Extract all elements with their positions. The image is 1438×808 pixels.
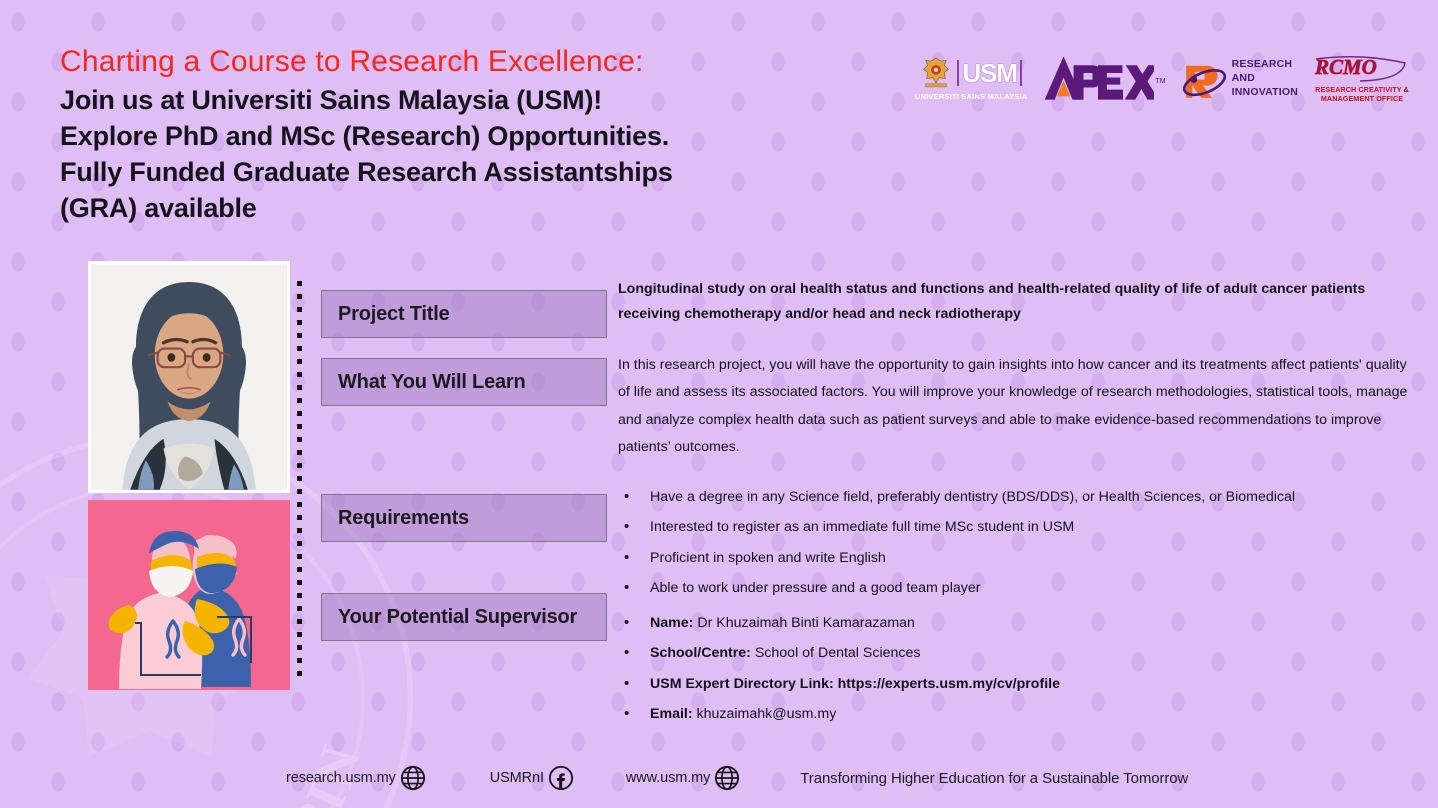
- logo-bar: USM UNIVERSITI SAINS MALAYSIA TM: [915, 50, 1412, 106]
- headline-line-4: (GRA) available: [60, 191, 960, 227]
- ri-line-3: INNOVATION: [1232, 85, 1298, 99]
- headline-line-3: Fully Funded Graduate Research Assistant…: [60, 155, 960, 191]
- ri-line-1: RESEARCH: [1232, 57, 1298, 71]
- usm-logo: USM UNIVERSITI SAINS MALAYSIA: [915, 56, 1028, 101]
- project-title-text: Longitudinal study on oral health status…: [618, 277, 1408, 327]
- list-item: Have a degree in any Science field, pref…: [618, 484, 1408, 510]
- label-box-requirements: Requirements: [321, 494, 607, 542]
- facebook-icon: [548, 765, 574, 791]
- rcmo-subtitle: RESEARCH CREATIVITY & MANAGEMENT OFFICE: [1315, 86, 1409, 103]
- poster-canvas: KAMI MEMIMPIN Charting a Course to Resea…: [0, 0, 1438, 808]
- rcmo-logo: RCMO RESEARCH CREATIVITY & MANAGEMENT OF…: [1312, 53, 1412, 103]
- cancer-awareness-illustration: [88, 500, 290, 690]
- label-box-what-you-will-learn: What You Will Learn: [321, 358, 607, 406]
- supervisor-details-container: Name: Dr Khuzaimah Binti Kamarazaman Sch…: [618, 610, 1408, 731]
- list-item: School/Centre: School of Dental Sciences: [618, 640, 1408, 666]
- footer-item-research-site[interactable]: research.usm.my: [286, 765, 426, 791]
- poster-header: Charting a Course to Research Excellence…: [60, 44, 960, 227]
- supervisor-key: Name:: [650, 615, 693, 631]
- rcmo-sub-line-2: MANAGEMENT OFFICE: [1315, 95, 1409, 104]
- supervisor-key: USM Expert Directory Link:: [650, 676, 834, 692]
- supervisor-list: Name: Dr Khuzaimah Binti Kamarazaman Sch…: [618, 610, 1408, 727]
- apex-trademark: TM: [1156, 78, 1166, 85]
- label-box-project-title: Project Title: [321, 290, 607, 338]
- list-item: Proficient in spoken and write English: [618, 545, 1408, 571]
- apex-wordmark-icon: [1042, 53, 1154, 103]
- headline-line-1: Join us at Universiti Sains Malaysia (US…: [60, 83, 960, 119]
- label-text-supervisor: Your Potential Supervisor: [338, 606, 577, 629]
- label-text-requirements: Requirements: [338, 507, 469, 530]
- requirements-list-container: Have a degree in any Science field, pref…: [618, 484, 1408, 605]
- supervisor-email[interactable]: khuzaimahk@usm.my: [693, 706, 837, 722]
- footer-item-usm-site[interactable]: www.usm.my: [626, 765, 740, 791]
- list-item: Interested to register as an immediate f…: [618, 514, 1408, 540]
- list-item: Email: khuzaimahk@usm.my: [618, 701, 1408, 727]
- list-item: Name: Dr Khuzaimah Binti Kamarazaman: [618, 610, 1408, 636]
- supervisor-key: Email:: [650, 706, 693, 722]
- usm-wordmark: USM: [957, 60, 1022, 86]
- label-text-project-title: Project Title: [338, 303, 450, 326]
- footer-item-facebook[interactable]: USMRnI: [490, 765, 574, 791]
- footer-label-facebook: USMRnI: [490, 770, 544, 786]
- footer-label-usm-site: www.usm.my: [626, 770, 710, 786]
- ri-symbol-icon: [1180, 55, 1226, 101]
- ri-text-block: RESEARCH AND INNOVATION: [1232, 57, 1298, 100]
- rcmo-wordmark-icon: RCMO: [1312, 53, 1412, 85]
- supervisor-key: School/Centre:: [650, 645, 751, 661]
- label-box-supervisor: Your Potential Supervisor: [321, 593, 607, 641]
- supervisor-value: Dr Khuzaimah Binti Kamarazaman: [693, 615, 915, 631]
- vertical-dotted-divider: [297, 281, 302, 679]
- footer-tagline: Transforming Higher Education for a Sust…: [800, 770, 1188, 787]
- supervisor-portrait: [88, 261, 290, 493]
- what-you-will-learn-text: In this research project, you will have …: [618, 352, 1408, 462]
- ri-line-2: AND: [1232, 71, 1298, 85]
- globe-icon: [400, 765, 426, 791]
- header-headline: Join us at Universiti Sains Malaysia (US…: [60, 83, 960, 227]
- label-text-what-you-will-learn: What You Will Learn: [338, 371, 526, 394]
- supervisor-value: School of Dental Sciences: [751, 645, 921, 661]
- header-tagline: Charting a Course to Research Excellence…: [60, 44, 960, 80]
- supervisor-link[interactable]: https://experts.usm.my/cv/profile: [834, 676, 1060, 692]
- poster-footer: research.usm.my USMRnI www.usm.my: [0, 758, 1438, 798]
- research-innovation-logo: RESEARCH AND INNOVATION: [1180, 55, 1298, 101]
- headline-line-2: Explore PhD and MSc (Research) Opportuni…: [60, 119, 960, 155]
- list-item: Able to work under pressure and a good t…: [618, 575, 1408, 601]
- globe-icon: [714, 765, 740, 791]
- apex-logo: TM: [1042, 53, 1166, 103]
- footer-label-research-site: research.usm.my: [286, 770, 396, 786]
- usm-crest-icon: [920, 56, 952, 90]
- requirements-list: Have a degree in any Science field, pref…: [618, 484, 1408, 601]
- usm-subtitle: UNIVERSITI SAINS MALAYSIA: [915, 92, 1028, 101]
- list-item: USM Expert Directory Link: https://exper…: [618, 671, 1408, 697]
